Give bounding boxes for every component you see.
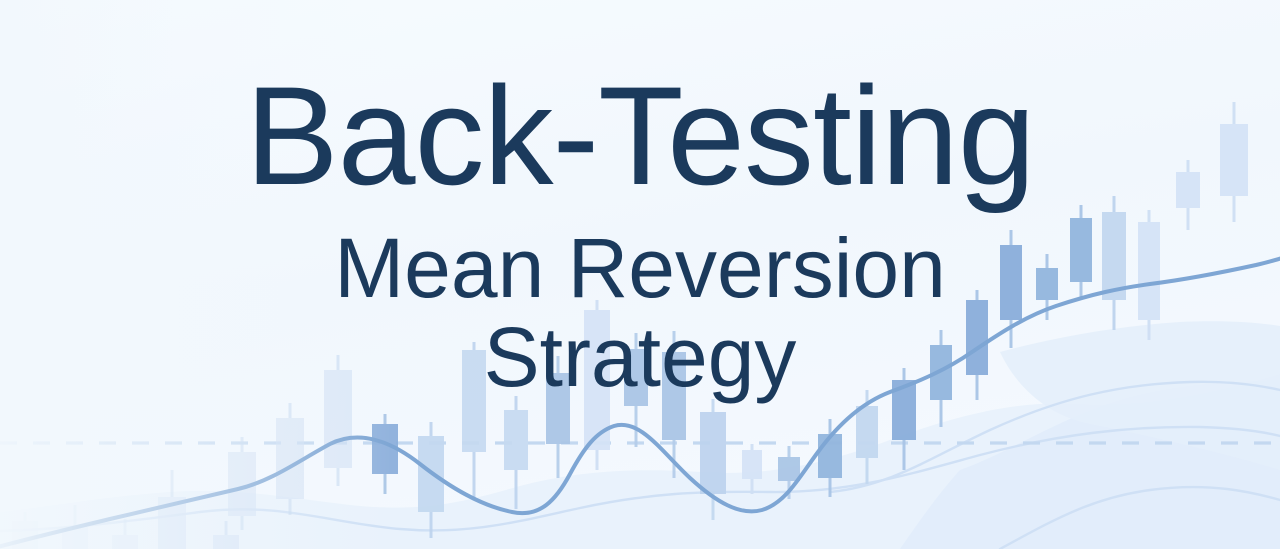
candle-body — [624, 349, 648, 406]
candlestick-chart-background — [0, 0, 1280, 549]
candle-body — [662, 352, 686, 440]
candle-body — [778, 457, 800, 481]
left-fade-overlay — [0, 0, 560, 549]
candle-body — [856, 406, 878, 458]
candle-body — [1036, 268, 1058, 300]
candle-body — [818, 434, 842, 478]
candle-body — [742, 450, 762, 479]
candle-body — [966, 300, 988, 375]
candle-body — [1000, 245, 1022, 320]
candle-body — [1070, 218, 1092, 282]
banner-hero: Back-Testing Mean Reversion Strategy — [0, 0, 1280, 549]
candle-body — [1220, 124, 1248, 196]
candle-body — [700, 412, 726, 494]
candle-body — [1138, 222, 1160, 320]
candle-body — [1176, 172, 1200, 208]
